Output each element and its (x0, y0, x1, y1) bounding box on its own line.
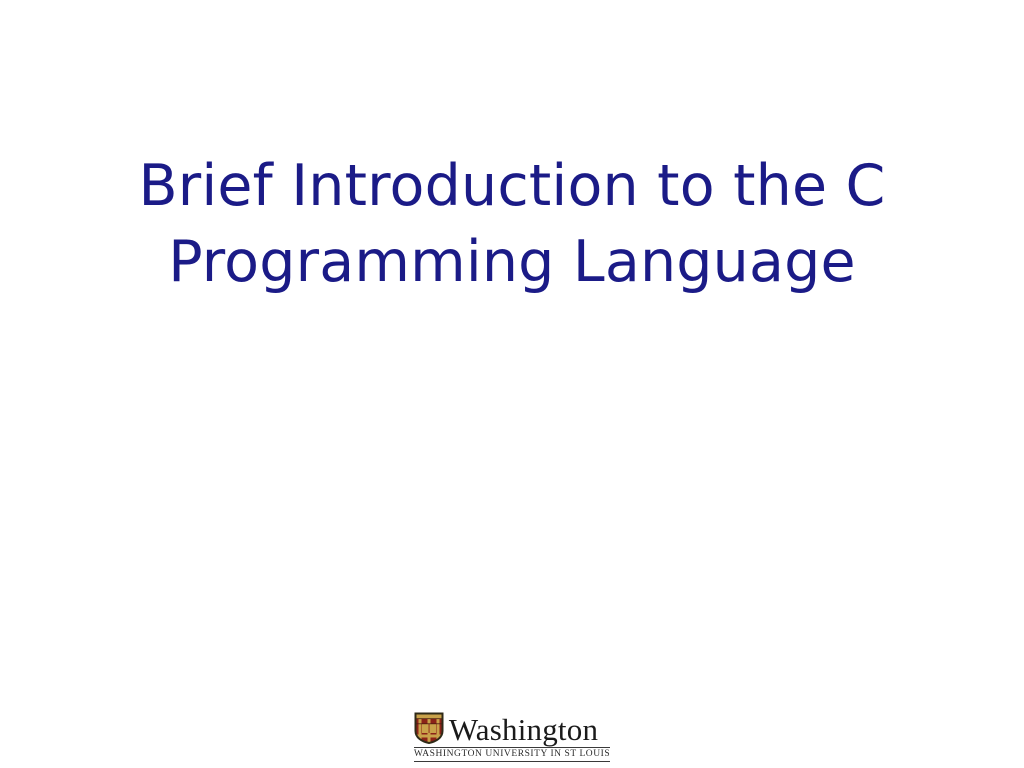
footer-logo: Washington WASHINGTON UNIVERSITY IN ST L… (0, 712, 1024, 762)
logo-rule-bottom (414, 761, 610, 762)
title-line-1: Brief Introduction to the C (0, 148, 1024, 224)
title-line-2: Programming Language (0, 224, 1024, 300)
slide-body-area (0, 330, 1024, 700)
slide-canvas: Brief Introduction to the C Programming … (0, 0, 1024, 768)
logo-wordmark: Washington (449, 714, 598, 745)
shield-crest-icon (414, 712, 444, 744)
page-title: Brief Introduction to the C Programming … (0, 148, 1024, 300)
logo-subtitle: WASHINGTON UNIVERSITY IN ST LOUIS (414, 748, 610, 761)
